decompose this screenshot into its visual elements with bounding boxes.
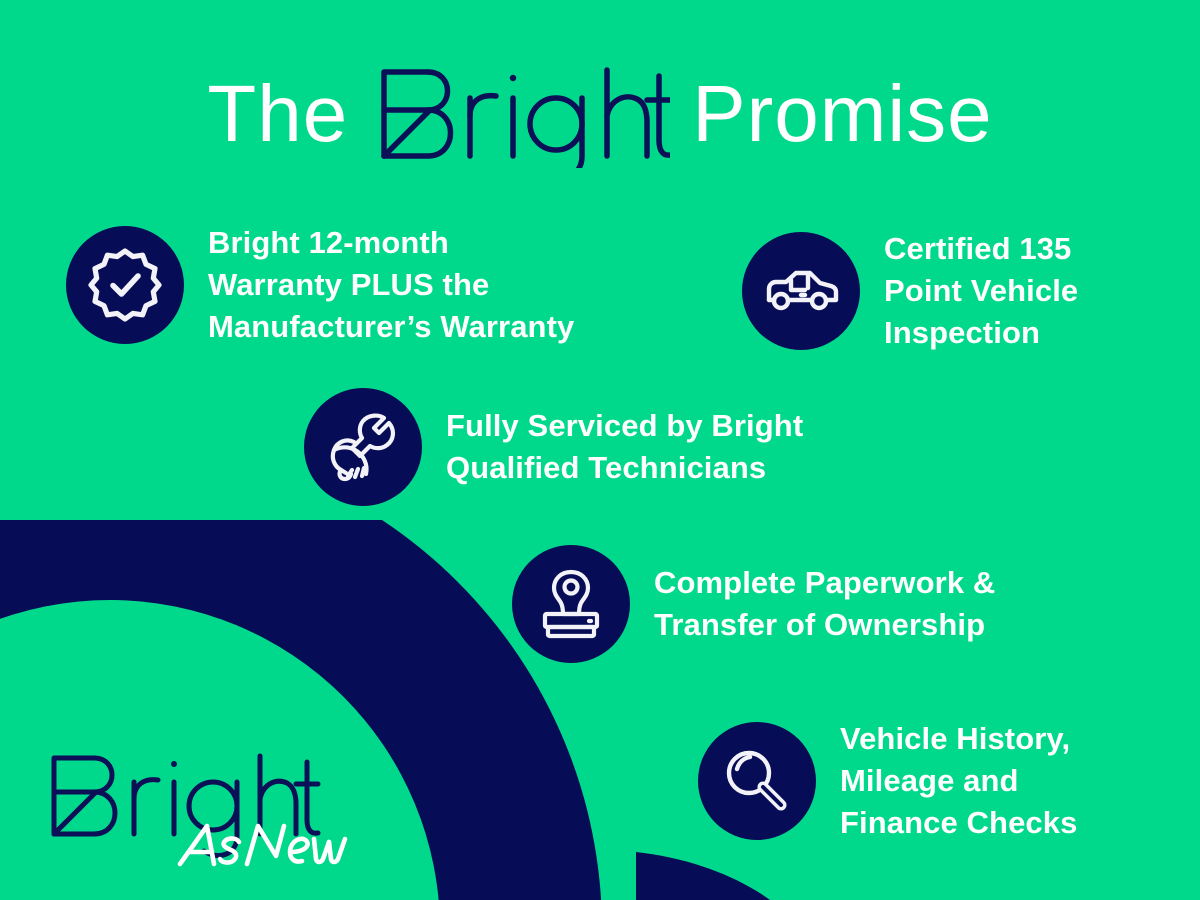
bright-wordmark-icon [370,60,670,168]
promise-text-checks: Vehicle History, Mileage and Finance Che… [840,718,1077,844]
promise-item-serviced: Fully Serviced by Bright Qualified Techn… [304,388,803,506]
promise-text-inspection: Certified 135 Point Vehicle Inspection [884,228,1078,354]
hand-wrench-icon [304,388,422,506]
promise-text-warranty: Bright 12-month Warranty PLUS the Manufa… [208,222,574,348]
promise-text-paperwork: Complete Paperwork & Transfer of Ownersh… [654,562,995,646]
promise-item-warranty: Bright 12-month Warranty PLUS the Manufa… [66,222,574,348]
verified-badge-icon [66,226,184,344]
page-title: The [0,58,1200,170]
promise-item-checks: Vehicle History, Mileage and Finance Che… [698,718,1077,844]
rubber-stamp-icon [512,545,630,663]
title-prefix: The [207,74,348,154]
brand-logo [44,742,374,872]
logo-asnew-text [180,826,345,864]
promise-text-serviced: Fully Serviced by Bright Qualified Techn… [446,405,803,489]
title-suffix: Promise [692,74,992,154]
car-icon [742,232,860,350]
magnifying-glass-icon [698,722,816,840]
promise-item-inspection: Certified 135 Point Vehicle Inspection [742,228,1078,354]
promise-item-paperwork: Complete Paperwork & Transfer of Ownersh… [512,545,995,663]
poster-canvas: The [0,0,1200,900]
